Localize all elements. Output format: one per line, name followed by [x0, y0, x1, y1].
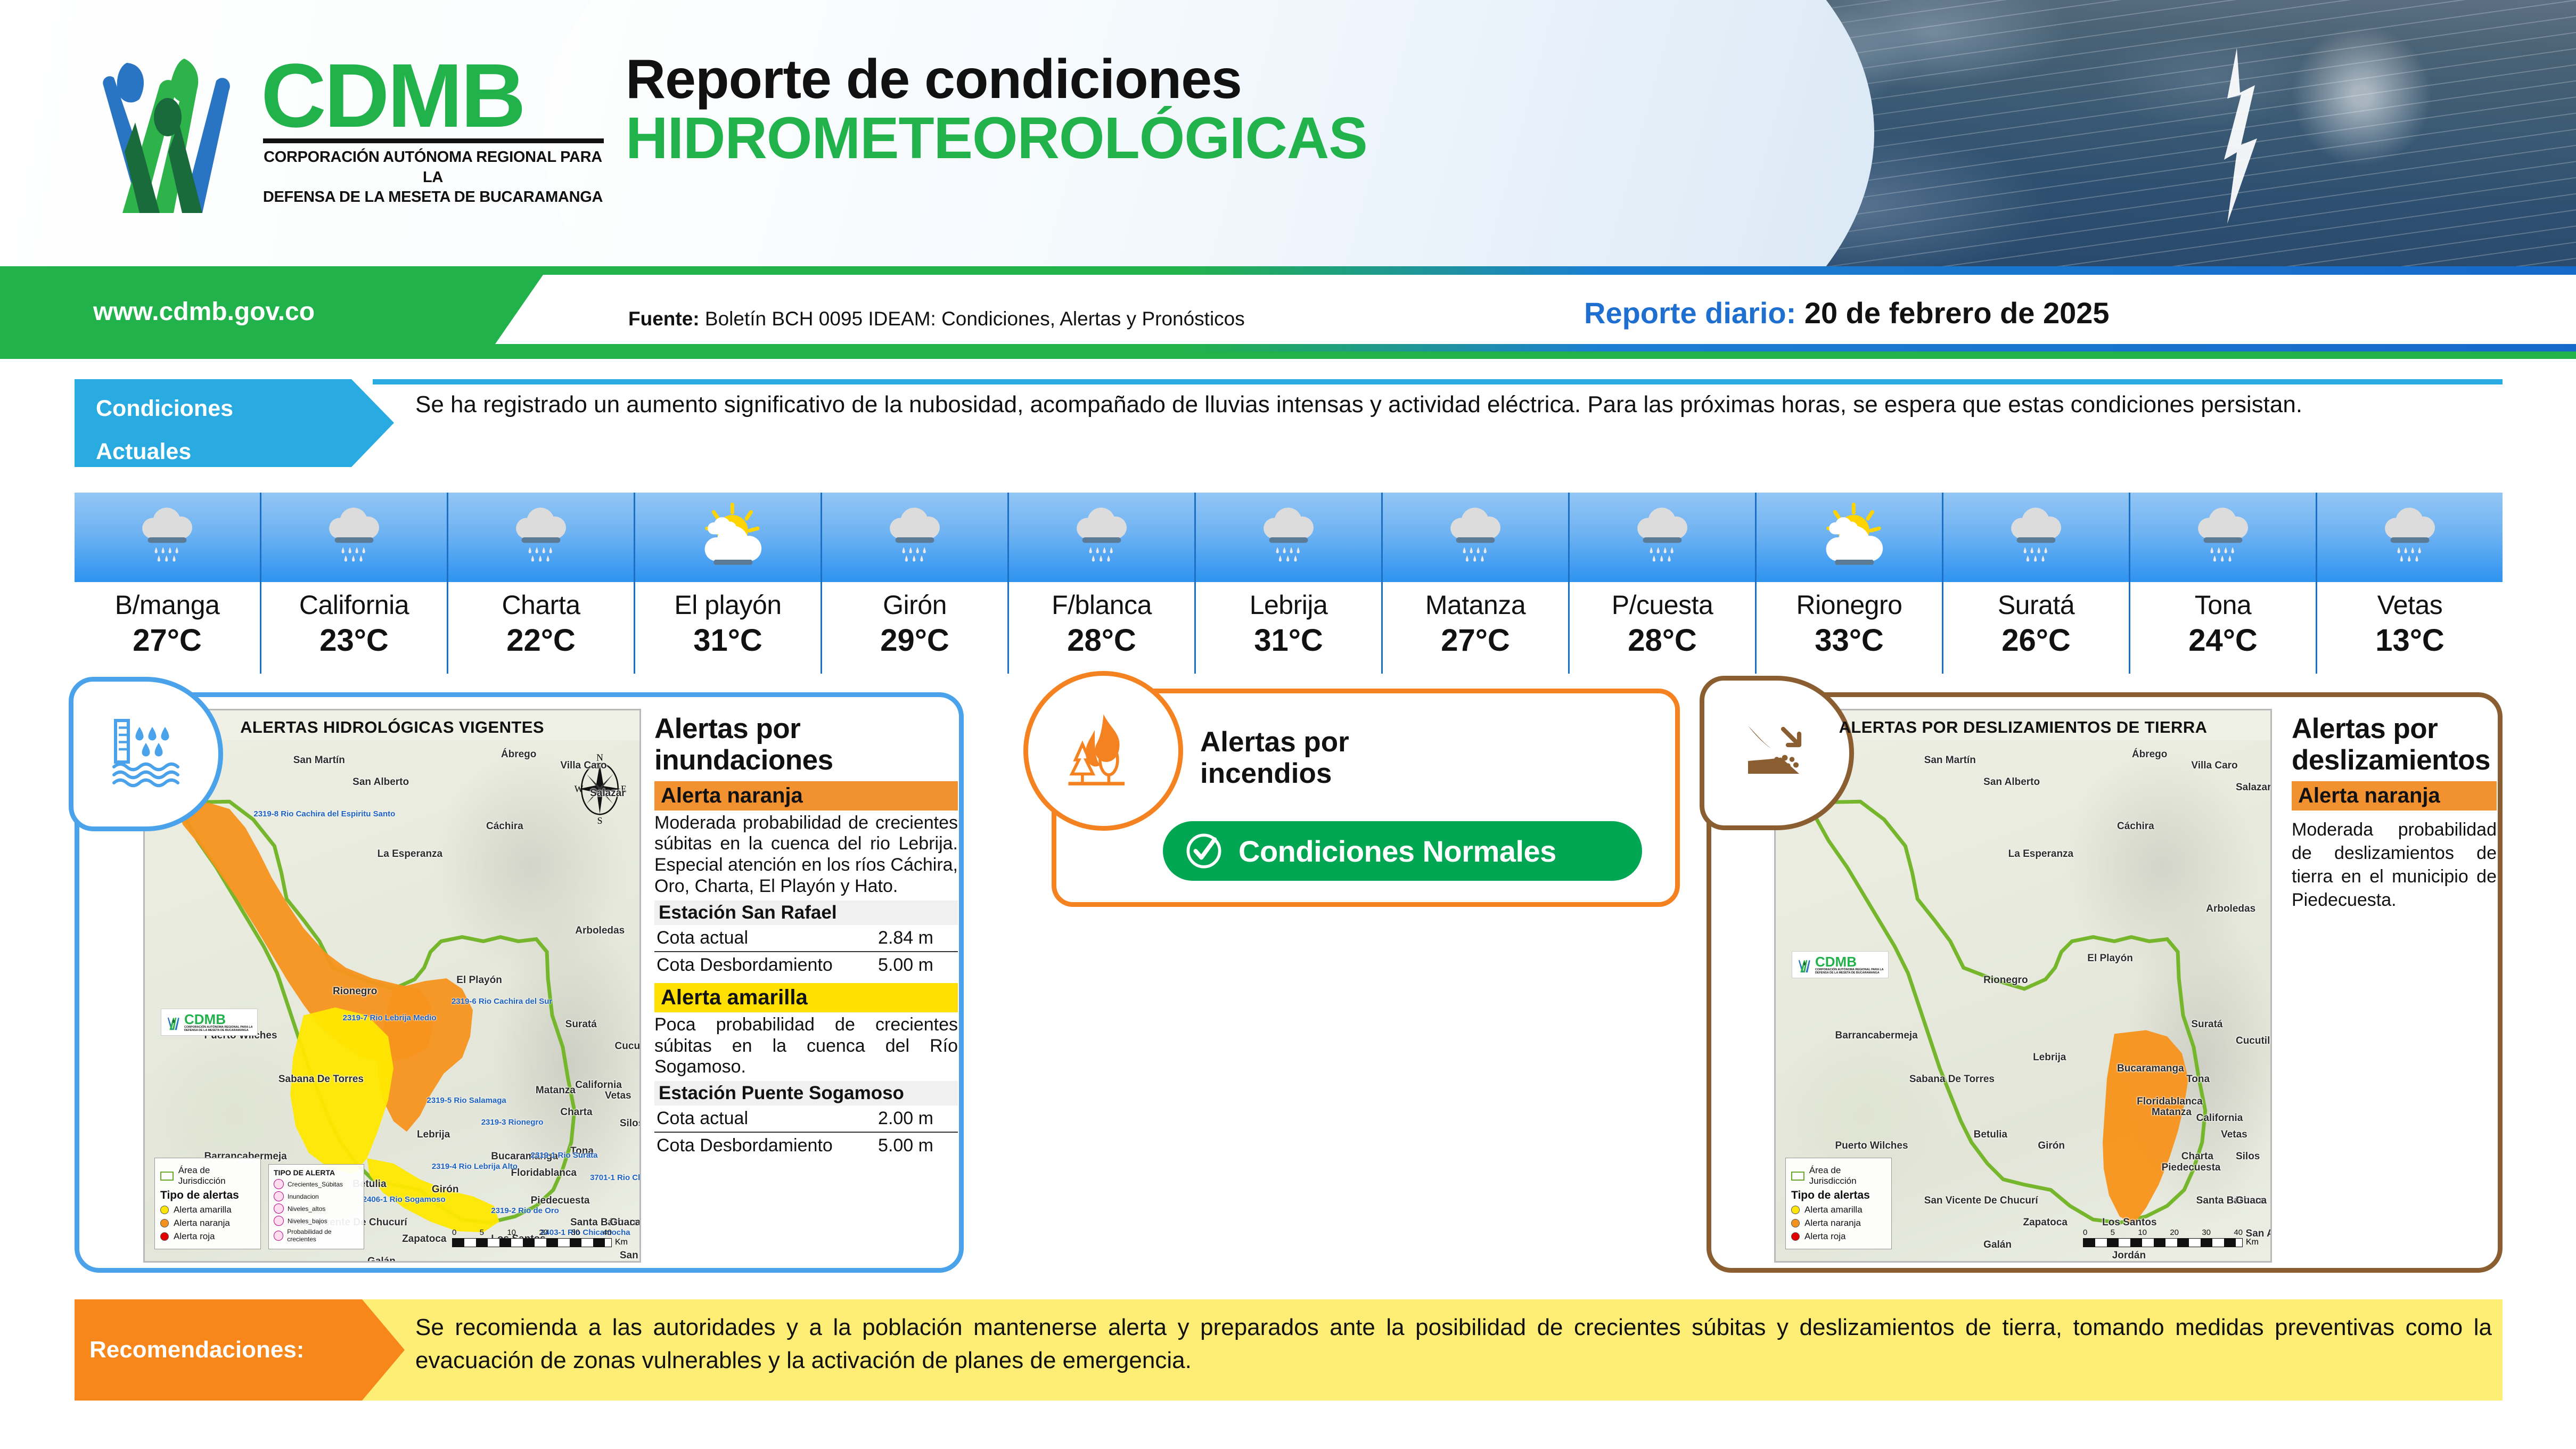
map-place-label: Floridablanca [2137, 1096, 2203, 1108]
legend-item-label: Alerta roja [1804, 1231, 1845, 1242]
map-river-label: 2319-1 Rio Surata [531, 1151, 598, 1160]
fire-status-label: Condiciones Normales [1238, 834, 1556, 869]
legend-item-label: Alerta naranja [1804, 1218, 1861, 1229]
page-title-line1: Reporte de condiciones [626, 51, 1367, 108]
flood-panel-title-line2: inundaciones [654, 744, 958, 776]
alert-type-item: Niveles_bajos [288, 1217, 327, 1225]
map-logo-name: CDMB [184, 1012, 253, 1026]
cota-value: 2.84 m [878, 928, 953, 948]
weather-city-name: B/manga [75, 590, 260, 620]
rain-cloud-icon [2001, 503, 2071, 572]
source-line: Fuente: Boletín BCH 0095 IDEAM: Condicio… [628, 308, 1245, 330]
map-river-label: 2406-1 Rio Sogamoso [363, 1195, 446, 1204]
landslide-alerts-card: ALERTAS POR DESLIZAMIENTOS DE TIERRA San… [1707, 692, 2503, 1273]
recommendations-tag: Recomendaciones: [75, 1299, 405, 1401]
legend-title: Tipo de alertas [1791, 1189, 1886, 1202]
map-place-label: Charta [2181, 1151, 2213, 1163]
cota-label: Cota actual [657, 1108, 748, 1129]
map-place-label: Sabana De Torres [278, 1074, 364, 1085]
map-logo-sub2: DEFENSA DE LA MESETA DE BUCARAMANGA [184, 1029, 253, 1033]
map-place-label: San Alberto [352, 776, 409, 788]
flood-alert1-label: Alerta naranja [654, 781, 958, 811]
map-place-label: Bucaramanga [2117, 1063, 2184, 1075]
map-place-label: Galán [1983, 1239, 2012, 1251]
weather-temperature: 31°C [1196, 623, 1381, 658]
current-conditions-text: Se ha registrado un aumento significativ… [415, 389, 2503, 420]
weather-city-name: Lebrija [1196, 590, 1381, 620]
map-place-label: Silos [620, 1118, 641, 1129]
report-page: CDMB CORPORACIÓN AUTÓNOMA REGIONAL PARA … [0, 0, 2576, 1449]
fire-panel-title: Alertas por incendios [1200, 726, 1349, 790]
map-place-label: Vetas [605, 1090, 631, 1102]
legend-jurisdiction-label: Área de Jurisdicción [178, 1165, 255, 1186]
weather-temperature: 33°C [1757, 623, 1942, 658]
map-place-label: Lebrija [417, 1129, 450, 1141]
map-place-label: Los Santos [2102, 1217, 2156, 1229]
weather-column: B/manga 27°C [75, 493, 261, 674]
map-cdmb-logo: CDMB CORPORACIÓN AUTÓNOMA REGIONAL PARA … [1792, 951, 1889, 978]
map-place-label: Puerto Wilches [1835, 1140, 1908, 1152]
map-place-label: Lebrija [2033, 1052, 2066, 1063]
map-place-label: San Martín [1924, 755, 1976, 766]
weather-city-name: Vetas [2317, 590, 2503, 620]
alert-type-item: Probabilidad de crecientes [287, 1228, 359, 1243]
weather-icon-box [635, 493, 821, 582]
map-place-label: Cáchira [486, 821, 523, 832]
rain-cloud-icon [1254, 503, 1323, 572]
landslide-map-title: ALERTAS POR DESLIZAMIENTOS DE TIERRA [1776, 718, 2270, 737]
landslide-map-legend: Área de Jurisdicción Tipo de alertas Ale… [1785, 1158, 1892, 1249]
rain-cloud-icon [1628, 503, 1697, 572]
map-place-label: San Vicente De Chucurí [1924, 1195, 2038, 1207]
weather-icon-box [822, 493, 1007, 582]
cota-value: 5.00 m [878, 955, 953, 976]
weather-temperature: 27°C [1383, 623, 1568, 658]
weather-temperature: 24°C [2130, 623, 2316, 658]
check-circle-icon [1183, 830, 1225, 872]
scale-tick: 0 [452, 1228, 456, 1237]
cota-label: Cota actual [657, 928, 748, 948]
scale-tick: 30 [2202, 1228, 2211, 1237]
landslide-alert-description: Moderada probabilidad de deslizamientos … [2292, 818, 2497, 912]
weather-icon-box [1009, 493, 1194, 582]
weather-city-name: Girón [822, 590, 1007, 620]
current-conditions-tag-line2: Actuales [75, 422, 394, 465]
scale-tick: 40 [603, 1228, 612, 1237]
fire-status-badge: Condiciones Normales [1163, 821, 1642, 881]
cota-label: Cota Desbordamiento [657, 955, 833, 976]
map-place-label: Cucutilla [615, 1041, 641, 1052]
scale-tick: 5 [2111, 1228, 2115, 1237]
flood-map-title: ALERTAS HIDROLÓGICAS VIGENTES [145, 718, 639, 737]
weather-icon-box [1943, 493, 2129, 582]
map-place-label: La Esperanza [378, 848, 443, 860]
weather-column: Rionegro 33°C [1757, 493, 1943, 674]
map-place-label: Villa Caro [2191, 760, 2237, 772]
rain-cloud-icon [319, 503, 389, 572]
map-place-label: Betulia [1974, 1129, 2007, 1141]
map-place-label: Arboledas [2206, 903, 2255, 915]
weather-city-name: Matanza [1383, 590, 1568, 620]
current-conditions-tag-line1: Condiciones [75, 379, 394, 422]
recommendations-section: Recomendaciones: Se recomienda a las aut… [75, 1299, 2503, 1401]
legend-jurisdiction-label: Área de Jurisdicción [1809, 1165, 1886, 1186]
rain-cloud-icon [1441, 503, 1510, 572]
map-place-label: Cucutilla [2236, 1035, 2272, 1047]
map-place-label: Charta [560, 1107, 592, 1118]
logo-subtitle-line1: CORPORACIÓN AUTÓNOMA REGIONAL PARA LA [261, 148, 605, 187]
current-conditions-rule [373, 379, 2503, 384]
weather-strip: B/manga 27°C California 23°C Charta 22°C [75, 493, 2503, 674]
green-divider [0, 351, 2576, 359]
map-place-label: Matanza [536, 1085, 576, 1096]
weather-column: Lebrija 31°C [1196, 493, 1383, 674]
weather-temperature: 31°C [635, 623, 821, 658]
cota-value: 5.00 m [878, 1135, 953, 1156]
map-place-label: Cáchira [2117, 821, 2154, 832]
landslide-panel-title-line2: deslizamientos [2292, 744, 2497, 776]
current-conditions-section: Condiciones Actuales Se ha registrado un… [75, 379, 2503, 467]
recommendations-tag-label: Recomendaciones: [75, 1299, 405, 1363]
weather-city-name: Charta [448, 590, 634, 620]
landslide-alert-label: Alerta naranja [2292, 781, 2497, 811]
weather-city-name: Rionegro [1757, 590, 1942, 620]
alert-type-item: Inundacion [288, 1193, 319, 1200]
map-place-label: Guaca [2236, 1195, 2267, 1207]
logo-wordmark: CDMB [261, 54, 607, 137]
alert-type-legend-title: TIPO DE ALERTA [274, 1168, 359, 1177]
map-place-label: Jordán [2112, 1250, 2146, 1262]
scale-tick: 30 [571, 1228, 580, 1237]
map-place-label: Sabana De Torres [1909, 1074, 1995, 1085]
weather-icon-box [2317, 493, 2503, 582]
scale-tick: 10 [2138, 1228, 2147, 1237]
cota-label: Cota Desbordamiento [657, 1135, 833, 1156]
map-logo-name: CDMB [1815, 955, 1884, 969]
map-place-label: Tona [2186, 1074, 2210, 1085]
svg-text:W: W [575, 784, 584, 795]
rain-cloud-icon [133, 503, 202, 572]
weather-temperature: 28°C [1570, 623, 1755, 658]
map-place-label: California [575, 1079, 622, 1091]
source-text: Boletín BCH 0095 IDEAM: Condiciones, Ale… [705, 308, 1245, 330]
sun-cloud-icon [691, 500, 765, 575]
page-header: CDMB CORPORACIÓN AUTÓNOMA REGIONAL PARA … [0, 0, 2576, 266]
alert-type-item: Niveles_altos [288, 1205, 325, 1213]
weather-column: Charta 22°C [448, 493, 635, 674]
weather-city-name: California [261, 590, 447, 620]
rain-cloud-icon [2188, 503, 2258, 572]
weather-temperature: 26°C [1943, 623, 2129, 658]
weather-column: P/cuesta 28°C [1570, 493, 1757, 674]
lightning-bolt-icon [2206, 48, 2270, 224]
legend-item-label: Alerta roja [174, 1231, 215, 1242]
logo-subtitle-line2: DEFENSA DE LA MESETA DE BUCARAMANGA [261, 187, 605, 207]
map-place-label: Barrancabermeja [1835, 1030, 1917, 1042]
landslide-map-scalebar: 0510203040 Km [2083, 1228, 2259, 1247]
weather-city-name: P/cuesta [1570, 590, 1755, 620]
weather-temperature: 27°C [75, 623, 260, 658]
weather-icon-box [1570, 493, 1755, 582]
map-place-label: Piedecuesta [531, 1195, 590, 1207]
weather-icon-box [1383, 493, 1568, 582]
weather-column: Tona 24°C [2130, 493, 2317, 674]
landslide-badge [1700, 676, 1854, 830]
weather-temperature: 23°C [261, 623, 447, 658]
map-place-label: Suratá [2191, 1019, 2222, 1030]
fire-badge [1023, 671, 1183, 831]
map-place-label: Girón [432, 1184, 459, 1196]
scale-unit: Km [615, 1238, 628, 1247]
scale-unit: Km [2246, 1238, 2259, 1247]
map-place-label: Rionegro [1983, 975, 2028, 986]
map-place-label: Ábrego [501, 749, 537, 760]
map-place-label: Guaca [610, 1217, 641, 1229]
weather-temperature: 22°C [448, 623, 634, 658]
legend-item-label: Alerta amarilla [1804, 1205, 1863, 1215]
map-place-label: Galán [367, 1256, 396, 1263]
map-river-label: 2319-5 Rio Salamaga [427, 1096, 506, 1105]
weather-column: Vetas 13°C [2317, 493, 2503, 674]
weather-column: F/blanca 28°C [1009, 493, 1196, 674]
map-place-label: San Alberto [1983, 776, 2040, 788]
map-place-label: Salazar [2236, 782, 2271, 793]
weather-temperature: 29°C [822, 623, 1007, 658]
map-place-label: Floridablanca [511, 1167, 577, 1179]
alerts-panels-row: ALERTAS HIDROLÓGICAS VIGENTES N S W E Sa… [75, 684, 2503, 1281]
map-logo-sub2: DEFENSA DE LA MESETA DE BUCARAMANGA [1815, 972, 1884, 975]
fire-panel-title-line2: incendios [1200, 758, 1349, 789]
map-place-label: Rionegro [333, 986, 377, 997]
weather-icon-box [261, 493, 447, 582]
scale-tick: 40 [2234, 1228, 2243, 1237]
map-place-label: El Playón [2087, 953, 2133, 964]
scale-tick: 0 [2083, 1228, 2087, 1237]
weather-column: Matanza 27°C [1383, 493, 1570, 674]
weather-icon-box [448, 493, 634, 582]
rain-cloud-icon [1067, 503, 1136, 572]
weather-temperature: 13°C [2317, 623, 2503, 658]
page-title: Reporte de condiciones HIDROMETEOROLÓGIC… [626, 51, 1367, 169]
weather-column: Girón 29°C [822, 493, 1009, 674]
rain-cloud-icon [880, 503, 949, 572]
map-place-label: Vetas [2221, 1129, 2247, 1141]
map-place-label: La Esperanza [2008, 848, 2074, 860]
flood-panel-title-line1: Alertas por [654, 713, 958, 744]
map-river-label: 2319-3 Rionegro [481, 1118, 544, 1127]
map-place-label: California [2196, 1112, 2243, 1124]
map-place-label: Villa Caro [560, 760, 606, 772]
weather-icon-box [2130, 493, 2316, 582]
source-label: Fuente: [628, 308, 700, 330]
weather-icon-box [1757, 493, 1942, 582]
map-place-label: Girón [2038, 1140, 2065, 1152]
legend-title: Tipo de alertas [160, 1189, 255, 1202]
current-conditions-tag: Condiciones Actuales [75, 379, 394, 467]
rain-cloud-icon [2375, 503, 2444, 572]
sun-cloud-icon [1812, 500, 1886, 575]
weather-city-name: Suratá [1943, 590, 2129, 620]
alert-type-item: Crecientes_Súbitas [288, 1181, 343, 1188]
svg-text:S: S [597, 815, 603, 825]
map-place-label: San Andrés [620, 1250, 641, 1262]
scale-tick: 10 [507, 1228, 516, 1237]
forest-fire-icon [1060, 707, 1147, 795]
map-place-label: Suratá [565, 1019, 597, 1030]
legend-item-label: Alerta naranja [174, 1218, 230, 1229]
weather-column: California 23°C [261, 493, 448, 674]
flood-alert1-description: Moderada probabilidad de crecientes súbi… [654, 813, 958, 897]
cdmb-mini-mark-icon [1796, 956, 1812, 974]
map-cdmb-logo: CDMB CORPORACIÓN AUTÓNOMA REGIONAL PARA … [161, 1009, 258, 1036]
map-place-label: San Martín [293, 755, 345, 766]
scale-tick: 20 [539, 1228, 548, 1237]
map-place-label: Piedecuesta [2162, 1162, 2221, 1174]
map-place-label: Arboledas [575, 925, 625, 937]
page-title-line2: HIDROMETEOROLÓGICAS [626, 108, 1367, 169]
weather-column: Suratá 26°C [1943, 493, 2130, 674]
hydrological-alerts-map[interactable]: ALERTAS HIDROLÓGICAS VIGENTES N S W E Sa… [143, 709, 641, 1263]
landslide-alerts-map[interactable]: ALERTAS POR DESLIZAMIENTOS DE TIERRA San… [1774, 709, 2272, 1263]
map-river-label: 2319-6 Rio Cachira del Sur [452, 997, 552, 1006]
report-date: 20 de febrero de 2025 [1804, 296, 2110, 330]
flood-alerts-card: ALERTAS HIDROLÓGICAS VIGENTES N S W E Sa… [75, 692, 964, 1273]
map-place-label: Salazar [590, 788, 626, 799]
cdmb-logo: CDMB CORPORACIÓN AUTÓNOMA REGIONAL PARA … [80, 43, 607, 218]
map-place-label: Ábrego [2132, 749, 2168, 760]
weather-column: El playón 31°C [635, 493, 822, 674]
flood-map-scalebar: 0510203040 Km [452, 1228, 628, 1247]
map-river-label: 3701-1 Rio Chitaga [590, 1173, 641, 1182]
cota-value: 2.00 m [878, 1108, 953, 1129]
website-url[interactable]: www.cdmb.gov.co [93, 297, 315, 326]
report-label: Reporte diario: [1584, 296, 1796, 330]
weather-city-name: El playón [635, 590, 821, 620]
flood-alert2-description: Poca probabilidad de crecientes súbitas … [654, 1014, 958, 1078]
flood-map-legend: Área de Jurisdicción Tipo de alertas Ale… [154, 1158, 261, 1249]
flood-alert2-label: Alerta amarilla [654, 983, 958, 1012]
map-place-label: Zapatoca [2023, 1217, 2068, 1229]
report-date-line: Reporte diario: 20 de febrero de 2025 [1584, 296, 2110, 330]
map-river-label: 2319-8 Rio Cachira del Espiritu Santo [253, 809, 395, 818]
flood-badge [69, 677, 223, 831]
rain-cloud-icon [506, 503, 576, 572]
map-river-label: 2319-4 Rio Lebrija Alto [432, 1162, 518, 1171]
jurisdiction-swatch [160, 1172, 174, 1181]
weather-icon-box [1196, 493, 1381, 582]
jurisdiction-swatch [1791, 1172, 1804, 1181]
recommendations-text: Se recomienda a las autoridades y a la p… [415, 1311, 2492, 1377]
weather-temperature: 28°C [1009, 623, 1194, 658]
cdmb-logo-mark-icon [80, 43, 256, 218]
map-river-label: 2319-7 Rio Lebrija Medio [343, 1013, 437, 1022]
map-river-label: 2319-2 Rio de Oro [491, 1206, 559, 1215]
weather-city-name: Tona [2130, 590, 2316, 620]
landslide-panel-title-line1: Alertas por [2292, 713, 2497, 744]
fire-panel-title-line1: Alertas por [1200, 726, 1349, 758]
map-place-label: Zapatoca [402, 1233, 446, 1245]
weather-city-name: F/blanca [1009, 590, 1194, 620]
cdmb-mini-mark-icon [166, 1013, 182, 1032]
map-place-label: El Playón [456, 975, 502, 986]
map-place-label: Matanza [2152, 1107, 2192, 1118]
fire-alerts-card: Alertas por incendios Condiciones Normal… [1052, 689, 1680, 907]
flood-alert2-station: Estación Puente Sogamoso [654, 1081, 958, 1106]
scale-tick: 20 [2170, 1228, 2179, 1237]
map-place-label: Silos [2236, 1151, 2260, 1163]
weather-icon-box [75, 493, 260, 582]
scale-tick: 5 [480, 1228, 484, 1237]
flood-map-alert-type-legend: TIPO DE ALERTA Crecientes_Súbitas Inunda… [268, 1164, 364, 1249]
map-place-label: Jordán [506, 1261, 539, 1263]
flood-alert1-station: Estación San Rafael [654, 900, 958, 925]
legend-item-label: Alerta amarilla [174, 1205, 232, 1215]
